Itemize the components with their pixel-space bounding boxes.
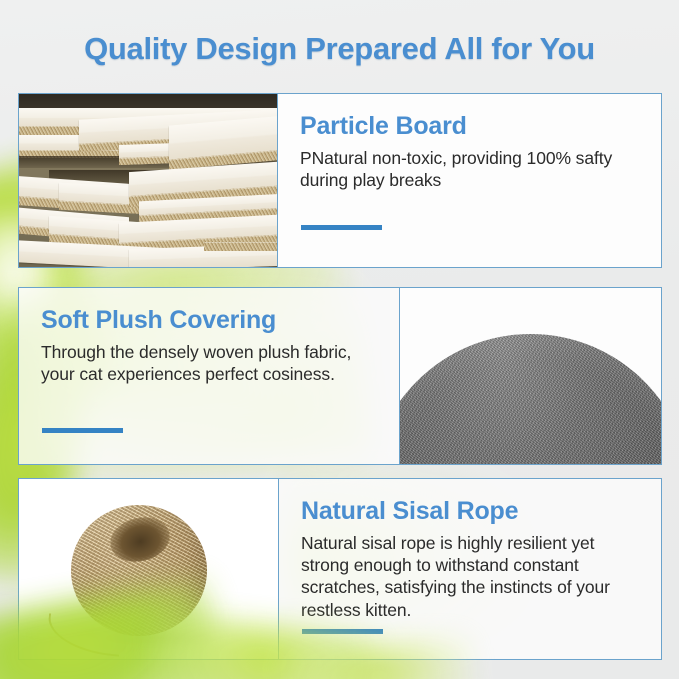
plush-texture-overlay [400, 334, 661, 464]
card-heading-particle-board: Particle Board [300, 113, 639, 141]
plush-dome-shape [400, 334, 661, 464]
accent-bar-soft-plush [42, 428, 123, 433]
accent-bar-sisal-rope [302, 629, 383, 634]
sisal-rope-image [19, 479, 278, 659]
card-body-particle-board: PNatural non-toxic, providing 100% safty… [300, 147, 639, 192]
card-body-sisal-rope: Natural sisal rope is highly resilient y… [301, 532, 639, 622]
soft-plush-image [400, 288, 661, 464]
feature-card-particle-board: Particle Board PNatural non-toxic, provi… [18, 93, 662, 268]
rope-ball-shape [71, 505, 207, 636]
particle-board-image [19, 94, 277, 267]
sisal-rope-text: Natural Sisal Rope Natural sisal rope is… [279, 479, 661, 659]
card-heading-soft-plush: Soft Plush Covering [41, 307, 377, 335]
accent-bar-particle-board [301, 225, 382, 230]
particle-board-text: Particle Board PNatural non-toxic, provi… [278, 94, 661, 267]
feature-card-soft-plush-covering: Soft Plush Covering Through the densely … [18, 287, 662, 465]
particle-board-photo [19, 94, 277, 267]
sisal-rope-photo [19, 479, 278, 659]
card-body-soft-plush: Through the densely woven plush fabric, … [41, 341, 377, 386]
infographic-page: Quality Design Prepared All for You [0, 0, 679, 679]
feature-card-natural-sisal-rope: Natural Sisal Rope Natural sisal rope is… [18, 478, 662, 660]
plush-fabric-photo [400, 288, 661, 464]
soft-plush-text: Soft Plush Covering Through the densely … [19, 288, 399, 464]
card-heading-sisal-rope: Natural Sisal Rope [301, 498, 639, 526]
page-title: Quality Design Prepared All for You [0, 31, 679, 67]
